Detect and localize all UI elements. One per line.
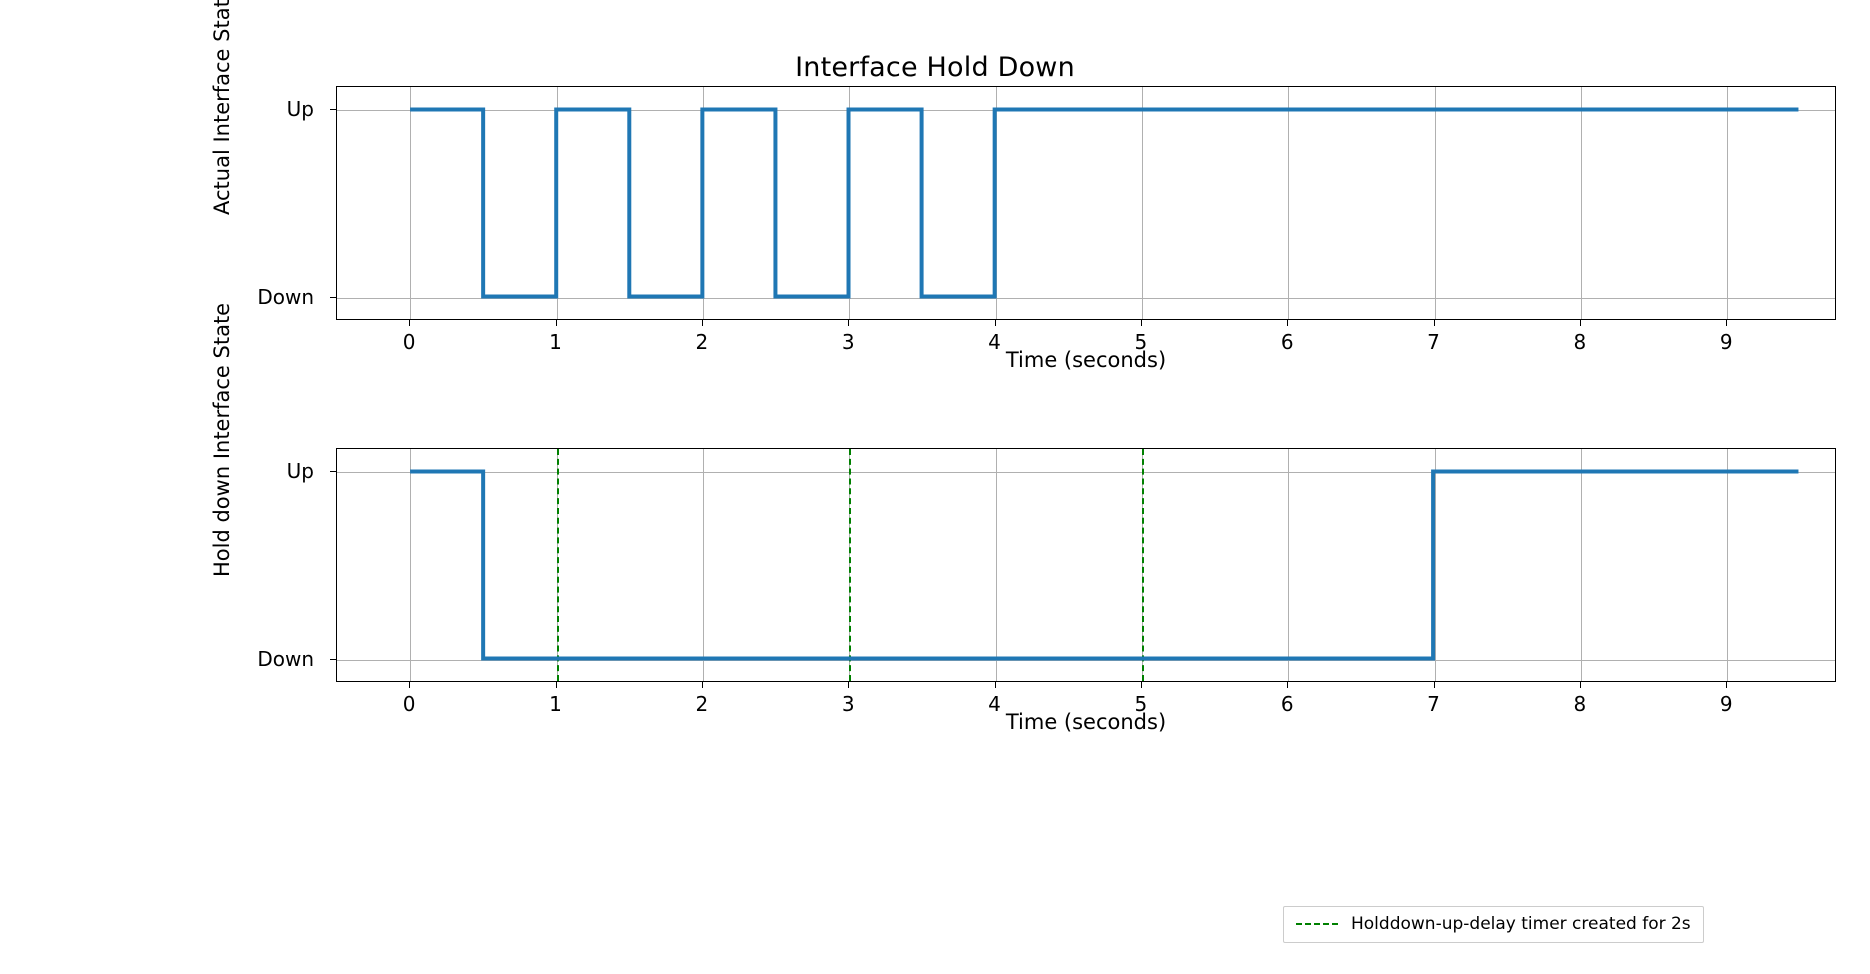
x-axis-tick [848, 682, 849, 688]
x-axis-tick [409, 320, 410, 326]
x-axis-tick [409, 682, 410, 688]
y-axis-tick [330, 659, 336, 660]
y-axis-tick-label: Down [114, 647, 314, 671]
legend-dashed-line-swatch [1296, 923, 1338, 925]
plot-area-bottom [337, 449, 1835, 681]
series-line-top [337, 87, 1835, 319]
x-axis-tick [1580, 682, 1581, 688]
y-axis-tick [330, 471, 336, 472]
y-axis-tick [330, 297, 336, 298]
x-axis-tick [1287, 320, 1288, 326]
x-axis-tick [1580, 320, 1581, 326]
x-axis-tick [995, 320, 996, 326]
legend: Holddown-up-delay timer created for 2s [1283, 906, 1704, 943]
x-axis-tick [556, 320, 557, 326]
x-axis-tick [1287, 682, 1288, 688]
x-axis-tick [848, 320, 849, 326]
x-axis-tick [1141, 682, 1142, 688]
y-axis-tick [330, 109, 336, 110]
series-line-bottom [337, 449, 1835, 681]
y-axis-label-bottom: Hold down Interface State [210, 303, 234, 577]
axes-holddown-interface-state [336, 448, 1836, 682]
x-axis-tick [995, 682, 996, 688]
x-axis-tick [702, 320, 703, 326]
figure-canvas: Interface Hold Down 0123456789DownUp Tim… [0, 0, 1870, 974]
y-axis-label-top: Actual Interface State [210, 0, 234, 215]
axes-actual-interface-state [336, 86, 1836, 320]
figure-title: Interface Hold Down [0, 52, 1870, 83]
legend-label: Holddown-up-delay timer created for 2s [1351, 914, 1691, 934]
x-axis-label-top: Time (seconds) [336, 348, 1836, 372]
x-axis-tick [702, 682, 703, 688]
x-axis-tick [1726, 682, 1727, 688]
x-axis-label-bottom: Time (seconds) [336, 710, 1836, 734]
x-axis-tick [1434, 320, 1435, 326]
x-axis-tick [1434, 682, 1435, 688]
x-axis-tick [1141, 320, 1142, 326]
plot-area-top [337, 87, 1835, 319]
x-axis-tick [1726, 320, 1727, 326]
x-axis-tick [556, 682, 557, 688]
